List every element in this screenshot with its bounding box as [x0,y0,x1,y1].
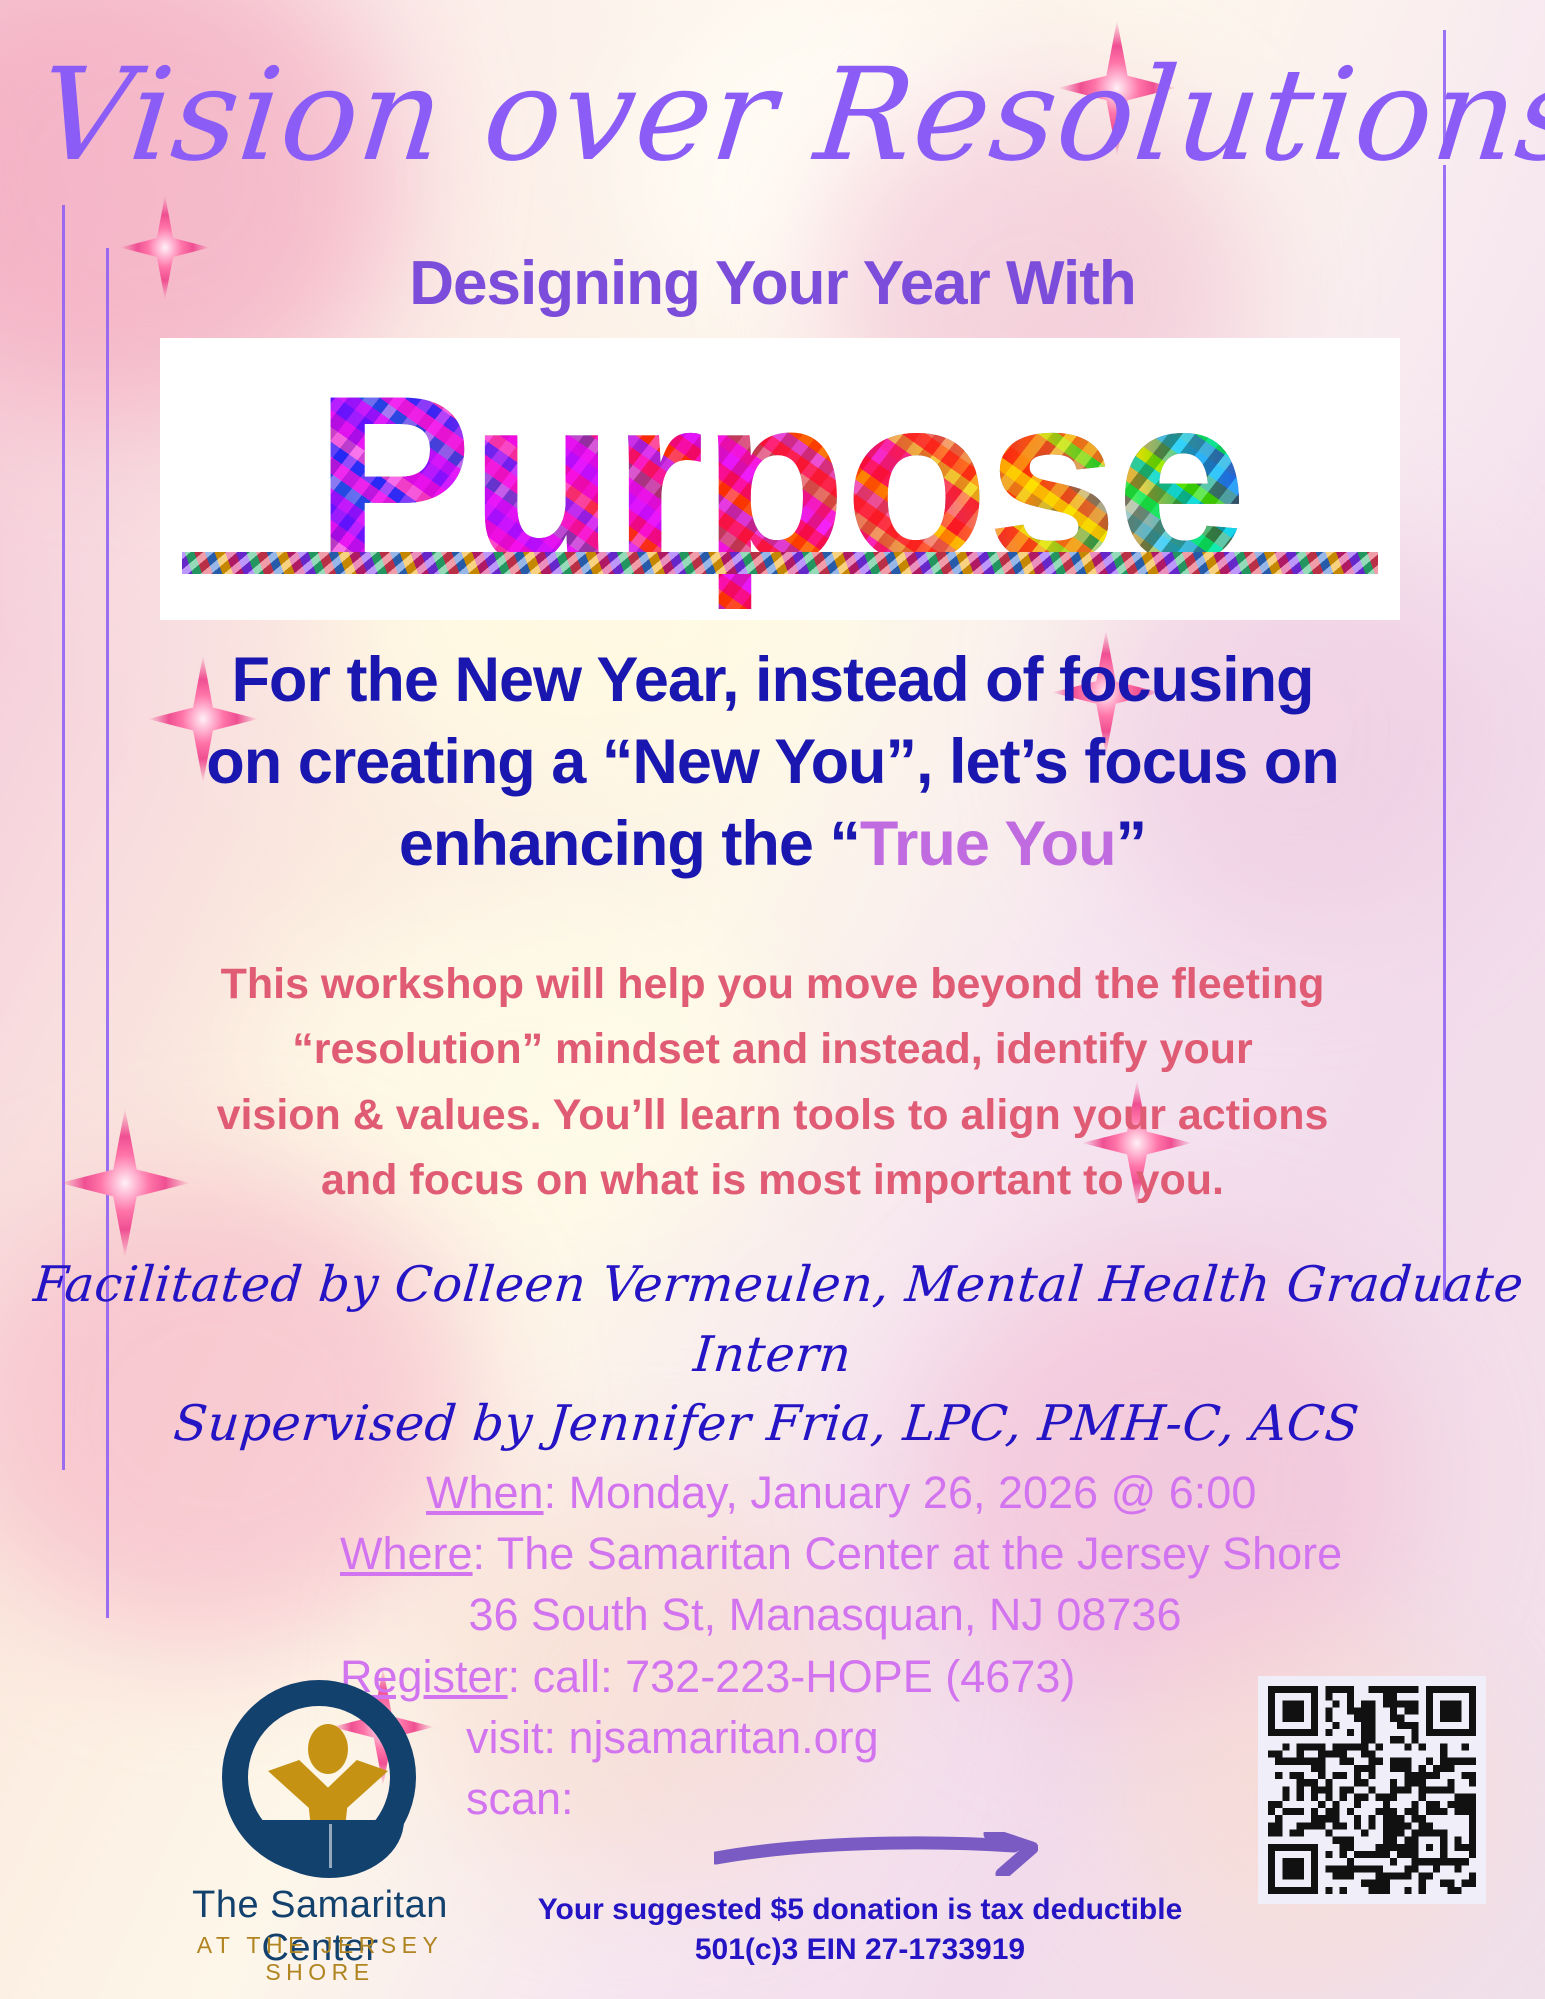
lede-line-2: on creating a “New You”, let’s focus on [30,722,1515,804]
description-line: and focus on what is most important to y… [70,1148,1475,1213]
detail-when: When: Monday, January 26, 2026 @ 6:00 [340,1462,1460,1523]
workshop-description: This workshop will help you move beyond … [70,952,1475,1213]
register-value[interactable]: : call: 732-223-HOPE (4673) [508,1651,1076,1702]
description-line: “resolution” mindset and instead, identi… [70,1017,1475,1082]
qr-code[interactable] [1258,1676,1486,1904]
when-label: When [426,1467,544,1518]
footer-line-1: Your suggested $5 donation is tax deduct… [420,1890,1300,1930]
lede-line-3-before: enhancing the “ [399,809,860,879]
purpose-wordmark-card: Purpose [160,338,1400,620]
description-line: This workshop will help you move beyond … [70,952,1475,1017]
logo-figure-head-icon [308,1724,348,1774]
facilitator-line: Facilitated by Colleen Vermeulen, Mental… [17,1250,1534,1389]
when-value: : Monday, January 26, 2026 @ 6:00 [544,1467,1257,1518]
detail-where: Where: The Samaritan Center at the Jerse… [340,1523,1460,1584]
poster-subtitle: Designing Your Year With [0,248,1545,319]
where-value: : The Samaritan Center at the Jersey Sho… [473,1528,1343,1579]
detail-address: 36 South St, Manasquan, NJ 08736 [340,1584,1460,1645]
lede-paragraph: For the New Year, instead of focusing on… [30,640,1515,886]
poster-title-script: Vision over Resolutions: [33,48,1487,184]
qr-code-image[interactable] [1268,1686,1476,1894]
lede-line-3: enhancing the “True You” [30,804,1515,886]
lede-line-3-after: ” [1116,809,1147,879]
true-you-highlight: True You [860,809,1116,879]
purpose-wordmark-underline [182,552,1378,574]
facilitator-credits: Facilitated by Colleen Vermeulen, Mental… [11,1250,1534,1459]
footer-line-2: 501(c)3 EIN 27-1733919 [420,1930,1300,1970]
donation-footer: Your suggested $5 donation is tax deduct… [420,1890,1300,1970]
facilitator-line: Supervised by Jennifer Fria, LPC, PMH-C,… [11,1389,1522,1459]
purpose-wordmark-text: Purpose [160,338,1400,620]
where-label: Where [340,1528,473,1579]
logo-cupped-hands-icon [254,1820,404,1878]
lede-line-1: For the New Year, instead of focusing [30,640,1515,722]
arrow-right-icon [714,1832,1038,1876]
description-line: vision & values. You’ll learn tools to a… [70,1083,1475,1148]
